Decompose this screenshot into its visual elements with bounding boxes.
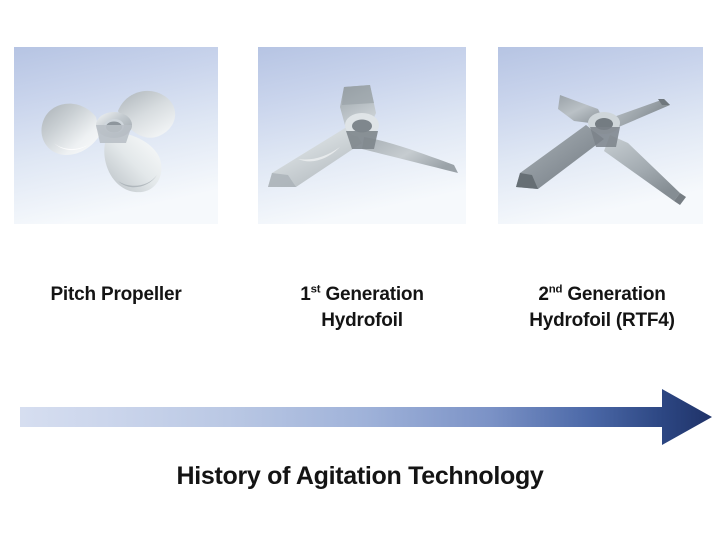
- caption-3-ordinal-suffix: nd: [549, 284, 563, 296]
- second-generation-hydrofoil-illustration: [498, 47, 703, 224]
- panel-caption-2-line2: Hydrofoil: [250, 308, 474, 334]
- caption-2-ordinal-suffix: st: [311, 284, 321, 296]
- panel-caption-2: 1st Generation Hydrofoil: [250, 282, 474, 334]
- panel-caption-1-line1: Pitch Propeller: [6, 282, 226, 308]
- timeline-arrow-shape: [18, 386, 714, 448]
- first-generation-hydrofoil-illustration: [258, 47, 466, 224]
- timeline-arrow: [18, 386, 714, 448]
- figure-canvas: Pitch Propeller 1st Generation Hydrofoil…: [0, 0, 720, 539]
- caption-2-text-post: Generation: [320, 284, 423, 305]
- caption-3-text-post: Generation: [562, 284, 665, 305]
- panel-caption-3: 2nd Generation Hydrofoil (RTF4): [490, 282, 714, 334]
- pitch-propeller-illustration: [14, 47, 218, 224]
- timeline-arrow-path: [20, 389, 712, 445]
- panel-caption-2-line1: 1st Generation: [250, 282, 474, 308]
- panel-caption-3-line1: 2nd Generation: [490, 282, 714, 308]
- impeller-photo-panel-1: [14, 47, 218, 224]
- figure-title: History of Agitation Technology: [0, 462, 720, 491]
- impeller-photo-panel-2: [258, 47, 466, 224]
- caption-1-text-pre: Pitch Propeller: [50, 284, 181, 305]
- impeller-photo-panel-3: [498, 47, 703, 224]
- caption-2-text-pre: 1: [300, 284, 310, 305]
- panel-caption-1: Pitch Propeller: [6, 282, 226, 308]
- panel-caption-3-line2: Hydrofoil (RTF4): [490, 308, 714, 334]
- caption-3-text-pre: 2: [538, 284, 548, 305]
